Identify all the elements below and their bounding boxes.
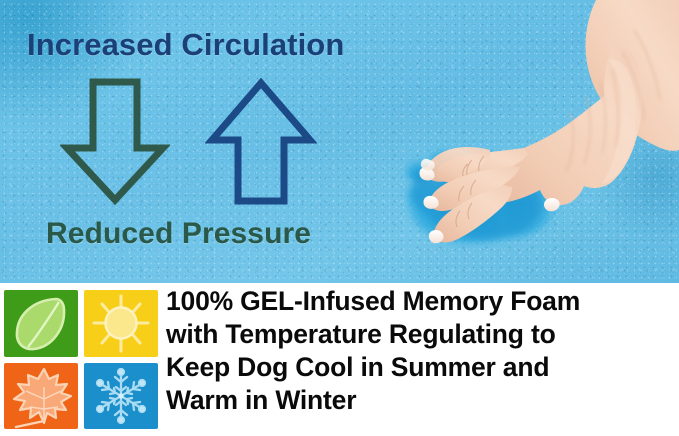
reduced-pressure-label: Reduced Pressure: [46, 217, 311, 251]
down-arrow-icon: [60, 76, 170, 206]
product-feature-graphic: Increased Circulation Reduced Pressure: [0, 0, 679, 436]
product-info-panel: 100% GEL-Infused Memory Foam with Temper…: [0, 283, 679, 436]
increased-circulation-label: Increased Circulation: [27, 27, 344, 63]
maple-leaf-icon: [4, 363, 78, 429]
leaf-icon: [4, 290, 78, 357]
product-description-text: 100% GEL-Infused Memory Foam with Temper…: [166, 285, 676, 417]
memory-foam-panel: Increased Circulation Reduced Pressure: [0, 0, 679, 283]
info-line-2: with Temperature Regulating to: [166, 318, 676, 351]
info-line-4: Warm in Winter: [166, 384, 676, 417]
hand-shape: [419, 0, 679, 243]
four-seasons-icon-grid: [4, 290, 158, 429]
sun-icon: [84, 290, 158, 357]
hand-pressing-foam-photo: [372, 0, 679, 283]
summer-sun-tile: [84, 290, 158, 357]
autumn-maple-leaf-tile: [4, 363, 78, 429]
info-line-3: Keep Dog Cool in Summer and: [166, 351, 676, 384]
snowflake-icon: [84, 363, 158, 429]
winter-snowflake-tile: [84, 363, 158, 429]
up-arrow-icon: [205, 78, 317, 206]
hand-illustration: [372, 0, 679, 283]
info-line-1: 100% GEL-Infused Memory Foam: [166, 285, 676, 318]
spring-leaf-tile: [4, 290, 78, 357]
